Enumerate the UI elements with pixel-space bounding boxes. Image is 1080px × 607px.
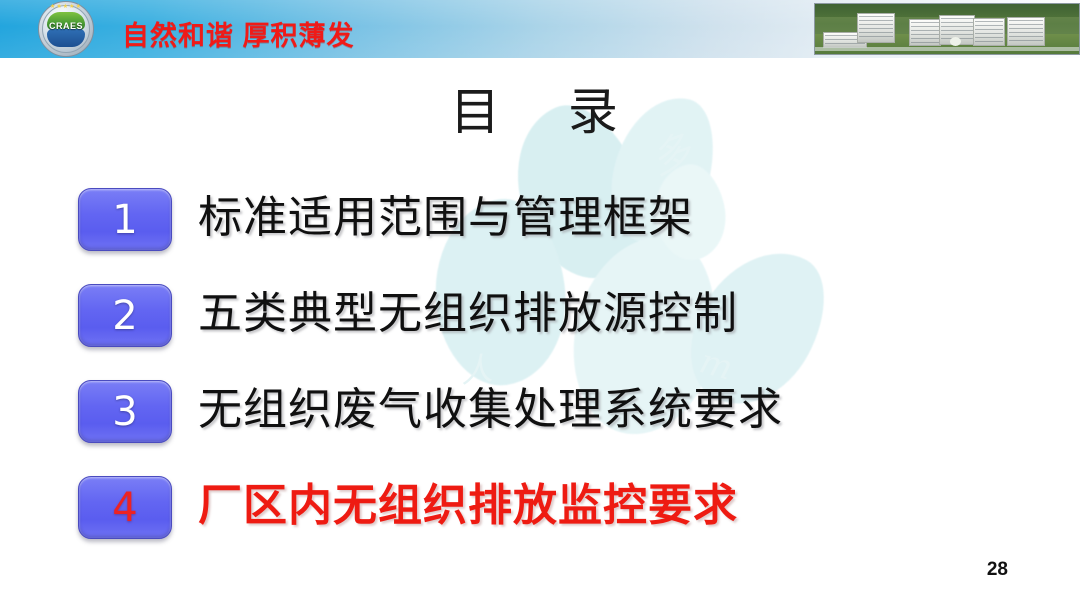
toc-item-4[interactable]: 4 厂区内无组织排放监控要求: [0, 468, 1080, 564]
toc-number-badge[interactable]: 3: [78, 380, 172, 443]
photo-road: [815, 47, 1080, 51]
slide-header: ★★★★★ CRAES 自然和谐 厚积薄发: [0, 0, 1080, 58]
logo-blue-base: [47, 29, 85, 47]
craes-logo-icon: ★★★★★ CRAES: [38, 1, 96, 57]
toc-list: 1 标准适用范围与管理框架 2 五类典型无组织排放源控制 3 无组织废气收集处理…: [0, 180, 1080, 564]
toc-number-label: 2: [112, 296, 137, 336]
toc-item-label: 五类典型无组织排放源控制: [198, 283, 738, 345]
toc-number-label: 3: [112, 392, 137, 432]
toc-number-label: 1: [112, 200, 137, 240]
slide-canvas: ★★★★★ CRAES 自然和谐 厚积薄发 多 m 人 目 录: [0, 0, 1080, 607]
photo-dome: [950, 37, 961, 46]
toc-item-2[interactable]: 2 五类典型无组织排放源控制: [0, 276, 1080, 372]
photo-building: [1007, 17, 1045, 46]
toc-item-label: 标准适用范围与管理框架: [198, 187, 693, 249]
toc-number-badge[interactable]: 1: [78, 188, 172, 251]
toc-item-3[interactable]: 3 无组织废气收集处理系统要求: [0, 372, 1080, 468]
toc-number-label: 4: [112, 488, 137, 528]
page-number: 28: [987, 559, 1008, 581]
photo-building: [857, 13, 895, 43]
toc-number-badge[interactable]: 4: [78, 476, 172, 539]
toc-item-1[interactable]: 1 标准适用范围与管理框架: [0, 180, 1080, 276]
header-slogan: 自然和谐 厚积薄发: [122, 14, 355, 53]
photo-building: [909, 19, 941, 46]
photo-building: [973, 18, 1005, 46]
toc-item-label: 无组织废气收集处理系统要求: [198, 379, 783, 441]
toc-item-label: 厂区内无组织排放监控要求: [198, 475, 738, 537]
logo-stars: ★★★★★: [38, 3, 94, 10]
toc-number-badge[interactable]: 2: [78, 284, 172, 347]
logo-acronym: CRAES: [38, 21, 94, 31]
campus-photo-image: [814, 3, 1080, 55]
page-title: 目 录: [0, 72, 1080, 144]
